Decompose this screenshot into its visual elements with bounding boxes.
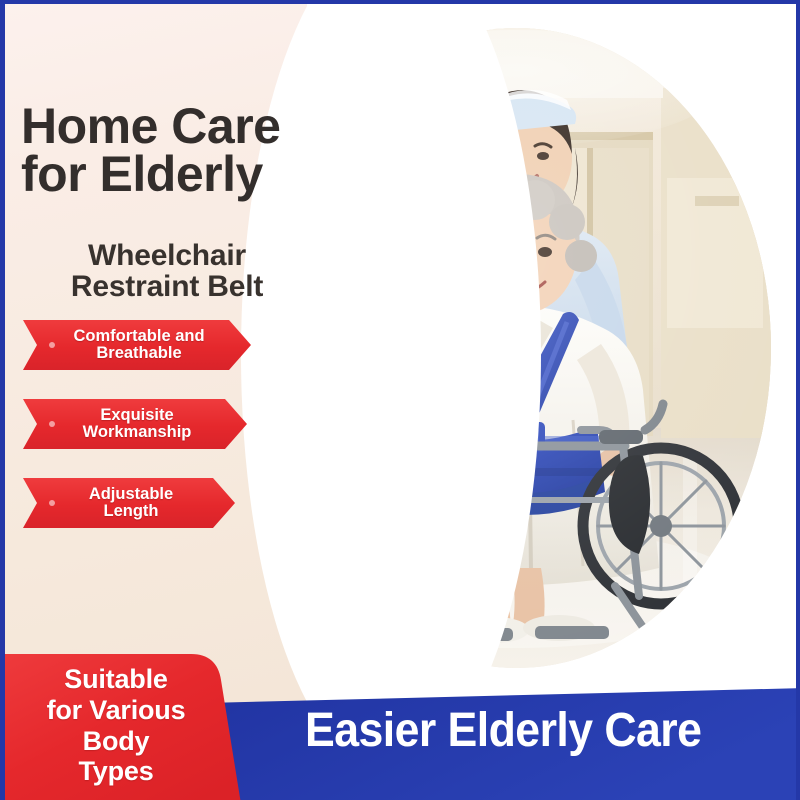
product-poster: Home Care for Elderly Wheelchair Restrai…: [0, 0, 800, 800]
feature-line-2: Length: [103, 502, 158, 520]
wedge-line-3: Body: [11, 726, 221, 757]
feature-line-1: Comfortable and: [73, 327, 204, 345]
subtitle-line-2: Restraint Belt: [27, 272, 307, 303]
bullet-dot-icon: [49, 342, 55, 348]
feature-ribbon-workmanship: Exquisite Workmanship: [23, 399, 247, 449]
wedge-line-2: for Various: [11, 695, 221, 726]
wedge-line-4: Types: [11, 756, 221, 787]
feature-list: Comfortable and Breathable Exquisite Wor…: [23, 320, 251, 557]
feature-line-2: Breathable: [96, 344, 181, 362]
page-title: Home Care for Elderly: [21, 102, 351, 198]
headline-line-2: for Elderly: [21, 150, 351, 198]
feature-line-1: Adjustable: [89, 485, 173, 503]
bullet-dot-icon: [49, 500, 55, 506]
feature-ribbon-comfortable: Comfortable and Breathable: [23, 320, 251, 370]
banner-headline: Easier Elderly Care: [305, 707, 770, 755]
feature-ribbon-adjustable: Adjustable Length: [23, 478, 235, 528]
wedge-line-1: Suitable: [11, 664, 221, 695]
bullet-dot-icon: [49, 421, 55, 427]
subtitle-line-1: Wheelchair: [88, 239, 246, 272]
feature-label: Exquisite Workmanship: [83, 407, 192, 442]
product-subtitle: Wheelchair Restraint Belt: [27, 241, 307, 303]
feature-line-2: Workmanship: [83, 423, 192, 441]
feature-label: Adjustable Length: [89, 486, 173, 521]
feature-label: Comfortable and Breathable: [73, 328, 204, 363]
feature-line-1: Exquisite: [100, 406, 173, 424]
suitability-text: Suitable for Various Body Types: [11, 664, 221, 787]
